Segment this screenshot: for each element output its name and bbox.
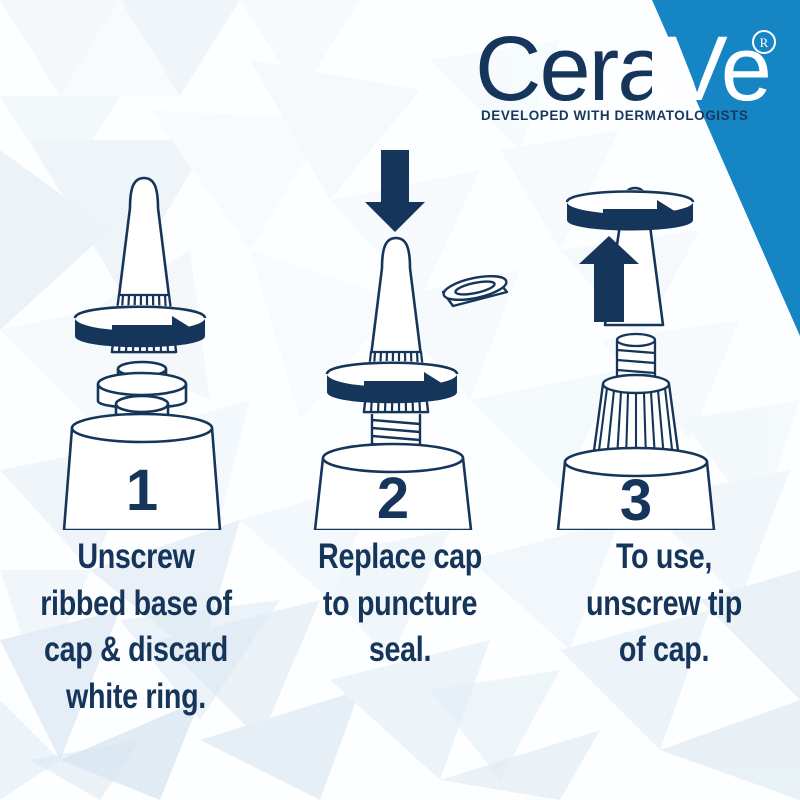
step-2-illustration: 2 — [275, 140, 525, 530]
rotation-band-arrow-icon — [567, 190, 693, 231]
step-number-1: 1 — [126, 458, 158, 523]
ribbed-base-icon — [593, 375, 679, 458]
down-arrow-icon — [365, 150, 425, 232]
step-1-caption: Unscrew ribbed base of cap & discard whi… — [33, 534, 240, 720]
rotation-band-arrow-icon — [327, 361, 457, 403]
step-number-2: 2 — [377, 466, 409, 530]
step-number-3: 3 — [620, 468, 652, 530]
instruction-graphic: CeraVe CeraVe R DEVELOPED WITH DERMATOLO… — [0, 0, 800, 800]
svg-text:R: R — [760, 35, 769, 50]
step-2-caption: Replace cap to puncture seal. — [297, 534, 504, 674]
step-1-illustration: 1 — [20, 140, 270, 530]
step-3-illustration: 3 — [545, 140, 795, 530]
discarded-ring-icon — [442, 272, 509, 306]
brand-tagline: DEVELOPED WITH DERMATOLOGISTS — [481, 108, 748, 123]
step-3-caption: To use, unscrew tip of cap. — [561, 534, 768, 674]
rotation-band-arrow-icon — [75, 305, 205, 347]
